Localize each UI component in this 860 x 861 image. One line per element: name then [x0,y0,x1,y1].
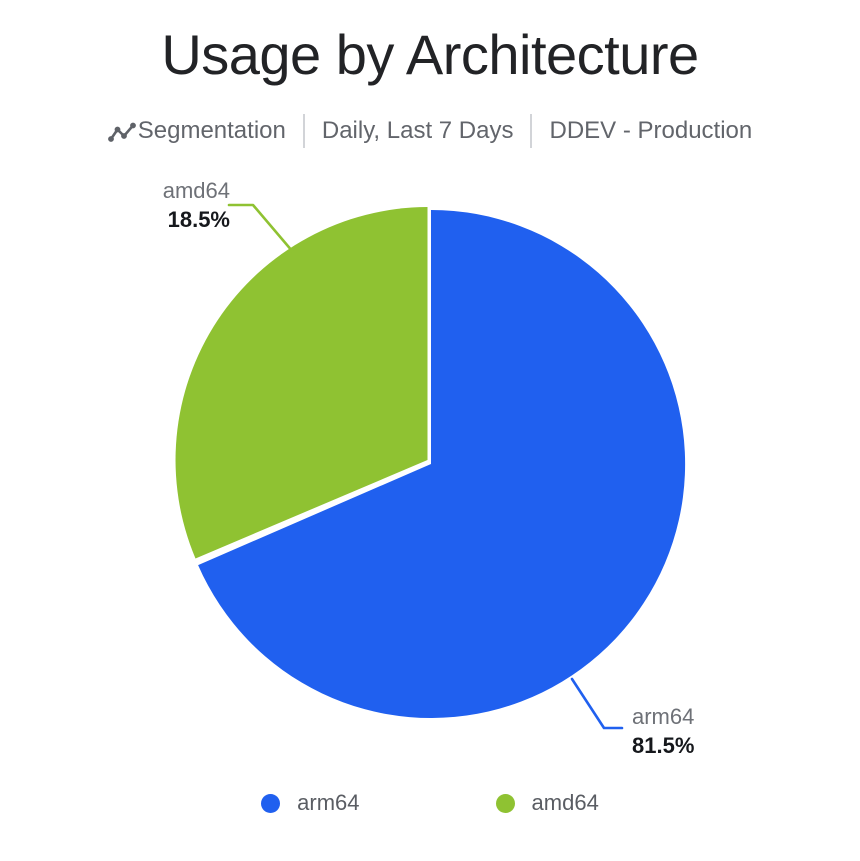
chart-subtitle: Segmentation Daily, Last 7 Days DDEV - P… [0,114,860,148]
slice-callout-arm64: arm64 81.5% [632,702,832,761]
slice-callout-arm64-category: arm64 [632,702,832,731]
slice-callout-amd64-percent: 18.5% [58,205,230,235]
subtitle-item-daterange: Daily, Last 7 Days [305,114,531,148]
subtitle-item-datasource: DDEV - Production [532,114,752,148]
trend-line-icon [108,120,136,142]
slice-callout-amd64: amd64 18.5% [58,176,230,235]
leader-line-amd64 [229,205,293,252]
pie-chart-card: Usage by Architecture Segmentation Daily… [0,0,860,861]
subtitle-item-segmentation: Segmentation [108,114,303,148]
chart-legend: arm64 amd64 [0,789,860,817]
legend-label-arm64: arm64 [297,789,359,817]
pie-slice-amd64[interactable] [176,207,428,559]
legend-item-arm64[interactable]: arm64 [261,789,359,817]
pie-slice-arm64[interactable] [198,210,685,718]
subtitle-label-segmentation: Segmentation [138,114,286,148]
subtitle-label-daterange: Daily, Last 7 Days [322,114,514,148]
legend-item-amd64[interactable]: amd64 [496,789,599,817]
legend-swatch-amd64-icon [496,794,515,813]
legend-swatch-arm64-icon [261,794,280,813]
slice-callout-amd64-category: amd64 [58,176,230,205]
subtitle-label-datasource: DDEV - Production [549,114,752,148]
leader-line-arm64 [572,679,622,728]
page-title: Usage by Architecture [0,18,860,92]
slice-callout-arm64-percent: 81.5% [632,731,832,761]
legend-label-amd64: amd64 [532,789,599,817]
